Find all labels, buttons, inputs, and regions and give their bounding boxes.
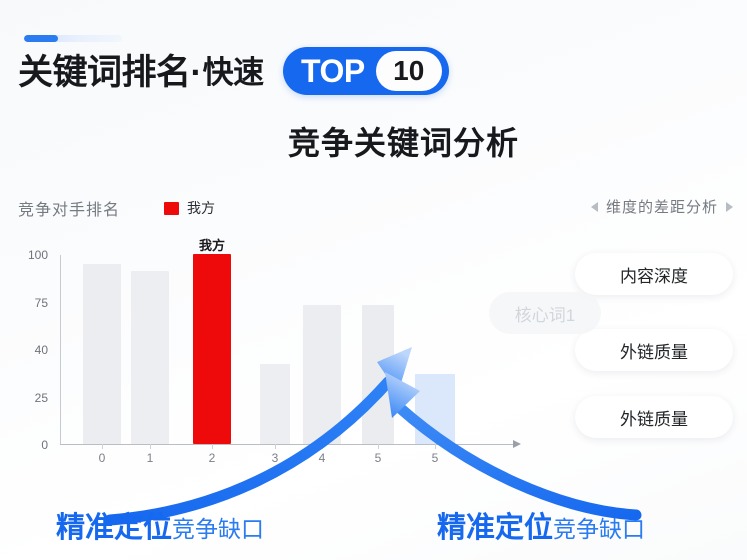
bar-chart: 1007540250 我方 0123455 <box>18 250 530 465</box>
caption-left: 精准定位 竞争缺口 <box>56 504 264 546</box>
top-rank-badge-number: 10 <box>376 51 442 91</box>
top-rank-badge-label: TOP <box>301 55 365 87</box>
y-axis-tick: 0 <box>18 438 48 452</box>
dimension-pill-backlink-quality-2[interactable]: 外链质量 <box>575 396 733 438</box>
top-rank-badge: TOP 10 <box>283 47 449 95</box>
progress-bar <box>24 35 122 42</box>
caption-right: 精准定位 竞争缺口 <box>437 504 645 546</box>
legend-swatch-icon <box>164 202 179 215</box>
chevron-left-icon <box>591 202 598 212</box>
bar-series: 我方 <box>60 250 515 445</box>
x-axis-tick: 4 <box>319 451 326 465</box>
poster-canvas: 关键词排名· 快速 TOP 10 竞争关键词分析 竞争对手排名 我方 10075… <box>0 0 747 560</box>
x-axis-tick: 3 <box>272 451 279 465</box>
bar-competitor <box>303 305 341 444</box>
chart-title: 竞争对手排名 <box>18 196 120 220</box>
page-title: 关键词排名· 快速 <box>18 46 264 98</box>
dimension-pill-content-depth[interactable]: 内容深度 <box>575 253 733 295</box>
dimension-pill-backlink-quality-1[interactable]: 外链质量 <box>575 329 733 371</box>
y-axis-tick: 100 <box>18 248 48 262</box>
x-axis-tickmark <box>102 444 103 449</box>
caption-right-weak: 竞争缺口 <box>553 510 645 544</box>
ghost-pill-label: 核心词1 <box>515 301 575 326</box>
bar-competitor <box>260 364 290 444</box>
bar-competitor <box>362 305 394 444</box>
dimension-pill-label: 外链质量 <box>620 338 688 363</box>
x-axis-tick: 5 <box>375 451 382 465</box>
caption-left-weak: 竞争缺口 <box>172 510 264 544</box>
page-subtitle: 竞争关键词分析 <box>0 118 747 164</box>
bar-competitor <box>415 374 455 444</box>
chart-header: 竞争对手排名 我方 <box>18 196 215 220</box>
x-axis-tick: 2 <box>209 451 216 465</box>
dimension-pill-label: 内容深度 <box>620 262 688 287</box>
bar-competitor <box>83 264 121 445</box>
page-subtitle-text: 竞争关键词分析 <box>228 125 519 161</box>
dimension-panel-header: 维度的差距分析 <box>591 196 733 217</box>
chevron-right-icon <box>726 202 733 212</box>
y-axis-tick: 40 <box>18 343 48 357</box>
bar-highlight-label: 我方 <box>199 235 225 254</box>
legend-label: 我方 <box>187 198 215 218</box>
page-title-accent: 快速 <box>203 57 264 88</box>
page-title-main: 关键词排名· <box>18 55 202 90</box>
y-axis: 1007540250 <box>18 250 58 445</box>
x-axis-tick: 1 <box>147 451 154 465</box>
y-axis-tick: 75 <box>18 296 48 310</box>
ghost-pill-core-keyword: 核心词1 <box>489 292 601 334</box>
dimension-panel-title: 维度的差距分析 <box>606 196 718 217</box>
caption-left-strong: 精准定位 <box>56 504 172 546</box>
dimension-pill-label: 外链质量 <box>620 405 688 430</box>
caption-right-strong: 精准定位 <box>437 504 553 546</box>
bar-highlight-ours <box>193 254 231 444</box>
x-axis-tickmark <box>435 444 436 449</box>
chart-legend: 我方 <box>164 198 215 218</box>
x-axis-tickmark <box>150 444 151 449</box>
x-axis-tickmark <box>275 444 276 449</box>
x-axis-tickmark <box>322 444 323 449</box>
x-axis-tick: 0 <box>99 451 106 465</box>
x-axis-tickmark <box>378 444 379 449</box>
x-axis-tick: 5 <box>432 451 439 465</box>
y-axis-tick: 25 <box>18 391 48 405</box>
bar-competitor <box>131 271 169 444</box>
x-axis-tickmark <box>212 444 213 449</box>
progress-bar-fill <box>24 35 58 42</box>
